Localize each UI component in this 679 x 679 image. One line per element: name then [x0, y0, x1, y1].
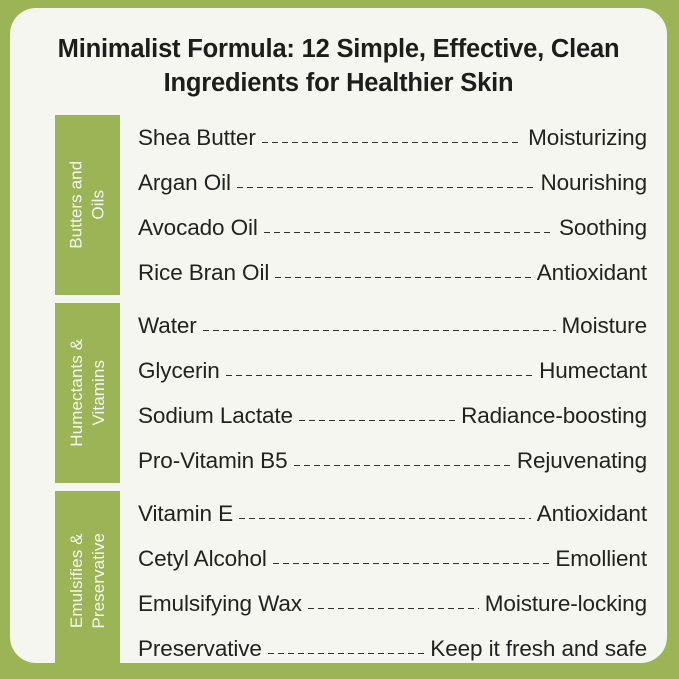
leader-dots: [226, 375, 533, 376]
leader-dots: [239, 518, 531, 519]
ingredient-name: Water: [138, 313, 197, 339]
ingredient-benefit: Antioxidant: [537, 501, 647, 527]
ingredient-benefit: Humectant: [539, 358, 647, 384]
ingredient-benefit: Keep it fresh and safe: [430, 636, 647, 662]
ingredient-group: Emulsifies &Preservative Vitamin E Antio…: [10, 491, 667, 663]
ingredient-row: Shea Butter Moisturizing: [138, 115, 647, 160]
ingredient-group: Humectants &Vitamins Water Moisture Glyc…: [10, 303, 667, 483]
ingredient-benefit: Moisture-locking: [485, 591, 647, 617]
ingredient-name: Glycerin: [138, 358, 220, 384]
leader-dots: [273, 563, 550, 564]
leader-dots: [299, 420, 455, 421]
ingredient-benefit: Nourishing: [540, 170, 647, 196]
page-title: Minimalist Formula: 12 Simple, Effective…: [10, 8, 667, 100]
leader-dots: [275, 277, 531, 278]
ingredient-group: Butters andOils Shea Butter Moisturizing…: [10, 115, 667, 295]
leader-dots: [294, 465, 511, 466]
leader-dots: [308, 608, 479, 609]
ingredient-benefit: Moisture: [562, 313, 647, 339]
ingredient-name: Preservative: [138, 636, 262, 662]
ingredient-name: Shea Butter: [138, 125, 256, 151]
ingredient-infographic-card: Minimalist Formula: 12 Simple, Effective…: [10, 8, 667, 663]
leader-dots: [237, 187, 535, 188]
ingredient-name: Avocado Oil: [138, 215, 258, 241]
group-chip-humectants-and-vitamins: Humectants &Vitamins: [55, 303, 120, 483]
ingredient-row: Cetyl Alcohol Emollient: [138, 536, 647, 581]
ingredient-row: Emulsifying Wax Moisture-locking: [138, 581, 647, 626]
ingredient-benefit: Antioxidant: [537, 260, 647, 286]
ingredient-benefit: Radiance-boosting: [461, 403, 647, 429]
ingredient-row: Preservative Keep it fresh and safe: [138, 626, 647, 663]
ingredient-row: Water Moisture: [138, 303, 647, 348]
group-rows: Shea Butter Moisturizing Argan Oil Nouri…: [120, 115, 667, 295]
leader-dots: [262, 142, 522, 143]
group-chip-emulsifies-and-preservative: Emulsifies &Preservative: [55, 491, 120, 663]
leader-dots: [264, 232, 553, 233]
ingredient-name: Cetyl Alcohol: [138, 546, 267, 572]
ingredient-name: Argan Oil: [138, 170, 231, 196]
group-rows: Water Moisture Glycerin Humectant Sodium…: [120, 303, 667, 483]
ingredient-group-list: Butters andOils Shea Butter Moisturizing…: [10, 115, 667, 663]
ingredient-row: Rice Bran Oil Antioxidant: [138, 250, 647, 295]
ingredient-benefit: Soothing: [559, 215, 647, 241]
ingredient-benefit: Moisturizing: [528, 125, 647, 151]
ingredient-benefit: Emollient: [555, 546, 647, 572]
leader-dots: [203, 330, 556, 331]
ingredient-name: Sodium Lactate: [138, 403, 293, 429]
ingredient-row: Vitamin E Antioxidant: [138, 491, 647, 536]
ingredient-row: Glycerin Humectant: [138, 348, 647, 393]
ingredient-benefit: Rejuvenating: [517, 448, 647, 474]
ingredient-name: Vitamin E: [138, 501, 233, 527]
ingredient-row: Pro-Vitamin B5 Rejuvenating: [138, 438, 647, 483]
ingredient-name: Emulsifying Wax: [138, 591, 302, 617]
ingredient-row: Avocado Oil Soothing: [138, 205, 647, 250]
group-chip-label: Butters andOils: [66, 161, 110, 249]
ingredient-row: Sodium Lactate Radiance-boosting: [138, 393, 647, 438]
ingredient-name: Pro-Vitamin B5: [138, 448, 288, 474]
group-chip-label: Emulsifies &Preservative: [66, 533, 110, 629]
leader-dots: [268, 653, 424, 654]
group-chip-label: Humectants &Vitamins: [66, 339, 110, 447]
group-rows: Vitamin E Antioxidant Cetyl Alcohol Emol…: [120, 491, 667, 663]
ingredient-name: Rice Bran Oil: [138, 260, 269, 286]
ingredient-row: Argan Oil Nourishing: [138, 160, 647, 205]
group-chip-butters-and-oils: Butters andOils: [55, 115, 120, 295]
